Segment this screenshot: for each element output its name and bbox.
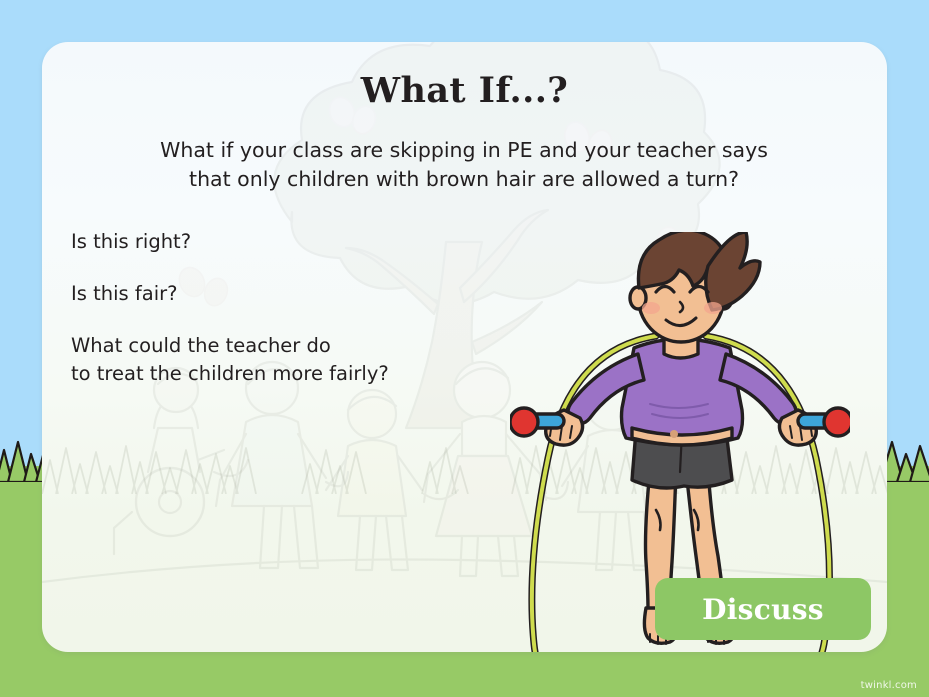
page-title: What If...? — [42, 70, 887, 111]
slide-canvas: What If...? What if your class are skipp… — [0, 0, 929, 697]
question-1-line-1: Is this right? — [71, 228, 491, 256]
content-card: What If...? What if your class are skipp… — [42, 42, 887, 652]
question-2-line-1: Is this fair? — [71, 280, 491, 308]
question-3-line-1: What could the teacher do — [71, 332, 491, 360]
scenario-prompt: What if your class are skipping in PE an… — [84, 136, 844, 194]
prompt-line-1: What if your class are skipping in PE an… — [84, 136, 844, 165]
prompt-line-2: that only children with brown hair are a… — [84, 165, 844, 194]
question-3-line-2: to treat the children more fairly? — [71, 360, 491, 388]
question-item-3: What could the teacher do to treat the c… — [71, 332, 491, 388]
question-item-1: Is this right? — [71, 228, 491, 256]
question-list: Is this right? Is this fair? What could … — [71, 228, 491, 388]
question-item-2: Is this fair? — [71, 280, 491, 308]
twinkl-watermark: twinkl.com — [861, 680, 917, 691]
discuss-button[interactable]: Discuss — [655, 578, 871, 640]
